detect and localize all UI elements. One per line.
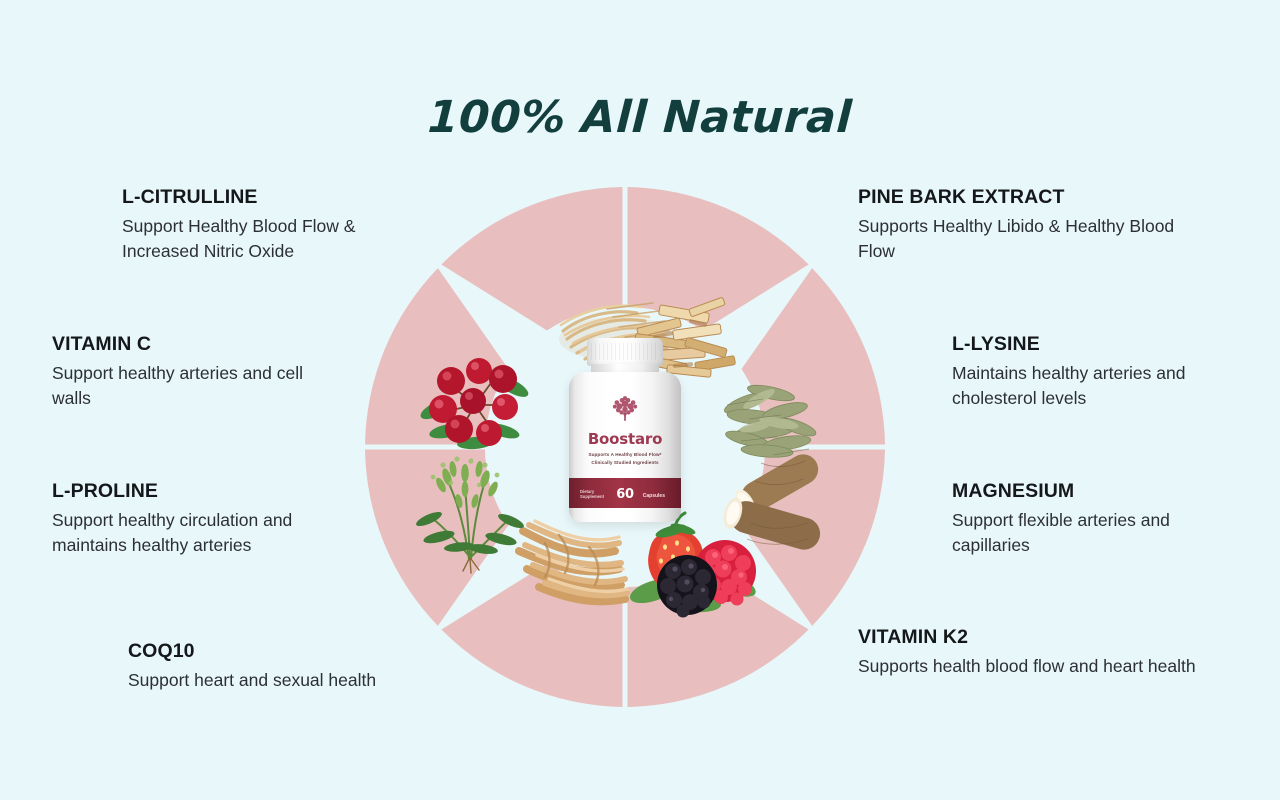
ingredient-label-coq10: COQ10 Support heart and sexual health — [128, 640, 448, 693]
ingredient-description: Support Healthy Blood Flow & Increased N… — [122, 214, 422, 264]
bottle-cap — [587, 338, 663, 366]
ingredient-label-l-citrulline: L-CITRULLINE Support Healthy Blood Flow … — [122, 186, 422, 264]
ingredient-description: Supports Healthy Libido & Healthy Blood … — [858, 214, 1198, 264]
ingredient-description: Supports health blood flow and heart hea… — [858, 654, 1218, 679]
ingredient-description: Support flexible arteries and capillarie… — [952, 508, 1242, 558]
ingredient-name: L-LYSINE — [952, 333, 1252, 356]
ingredient-description: Maintains healthy arteries and cholester… — [952, 361, 1252, 411]
ingredient-name: COQ10 — [128, 640, 448, 663]
ingredient-label-pine-bark-extract: PINE BARK EXTRACT Supports Healthy Libid… — [858, 186, 1198, 264]
bottle-capsule-unit: Capsules — [643, 493, 665, 499]
bottle-label-band: Dietary Supplement 60 Capsules — [569, 478, 681, 508]
ingredient-label-vitamin-k2: VITAMIN K2 Supports health blood flow an… — [858, 626, 1218, 679]
ingredient-label-vitamin-c: VITAMIN C Support healthy arteries and c… — [52, 333, 342, 411]
page-title: 100% All Natural — [0, 92, 1280, 143]
ingredient-description: Support healthy circulation and maintain… — [52, 508, 352, 558]
infographic-canvas: 100% All Natural — [0, 0, 1280, 800]
ingredient-name: VITAMIN K2 — [858, 626, 1218, 649]
ingredient-description: Support heart and sexual health — [128, 668, 448, 693]
ingredient-name: L-PROLINE — [52, 480, 352, 503]
ingredient-label-l-lysine: L-LYSINE Maintains healthy arteries and … — [952, 333, 1252, 411]
bottle-brand: Boostaro — [569, 430, 681, 448]
bottle-tagline-1: Supports A Healthy Blood Flow* — [569, 452, 681, 457]
bottle-body: Boostaro Supports A Healthy Blood Flow* … — [569, 372, 681, 522]
ingredient-label-magnesium: MAGNESIUM Support flexible arteries and … — [952, 480, 1242, 558]
ingredient-name: L-CITRULLINE — [122, 186, 422, 209]
product-bottle: Boostaro Supports A Healthy Blood Flow* … — [563, 338, 687, 522]
flower-burst-icon — [569, 394, 681, 424]
ingredient-name: PINE BARK EXTRACT — [858, 186, 1198, 209]
segment-pine-bark-extract — [628, 187, 809, 330]
ingredient-name: MAGNESIUM — [952, 480, 1242, 503]
ingredient-description: Support healthy arteries and cell walls — [52, 361, 342, 411]
ingredient-label-l-proline: L-PROLINE Support healthy circulation an… — [52, 480, 352, 558]
bottle-tagline-2: Clinically Studied Ingredients — [569, 460, 681, 465]
ingredient-name: VITAMIN C — [52, 333, 342, 356]
